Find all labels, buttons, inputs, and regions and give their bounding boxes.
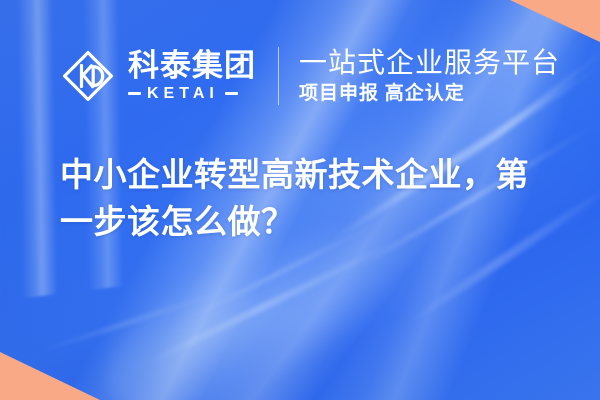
ketai-diamond-monogram-icon: [60, 48, 116, 104]
brand-logo: 科泰集团 KETAI: [60, 48, 256, 104]
wordmark-rule-left: [128, 92, 141, 95]
promo-banner: 科泰集团 KETAI 一站式企业服务平台 项目申报 高企认定 中小企业转型高新技…: [0, 0, 600, 400]
wordmark-rule-right: [225, 92, 238, 95]
tagline-block: 一站式企业服务平台 项目申报 高企认定: [299, 47, 560, 104]
tagline-main: 一站式企业服务平台: [299, 47, 560, 78]
brand-wordmark: 科泰集团 KETAI: [128, 50, 256, 102]
brand-name-en: KETAI: [147, 86, 219, 102]
headline-text: 中小企业转型高新技术企业，第一步该怎么做？: [60, 152, 546, 246]
banner-header: 科泰集团 KETAI 一站式企业服务平台 项目申报 高企认定: [60, 40, 560, 112]
tagline-sub: 项目申报 高企认定: [299, 84, 560, 105]
brand-name-en-row: KETAI: [128, 86, 256, 102]
brand-name-cn: 科泰集团: [128, 50, 256, 83]
header-divider: [278, 47, 279, 105]
